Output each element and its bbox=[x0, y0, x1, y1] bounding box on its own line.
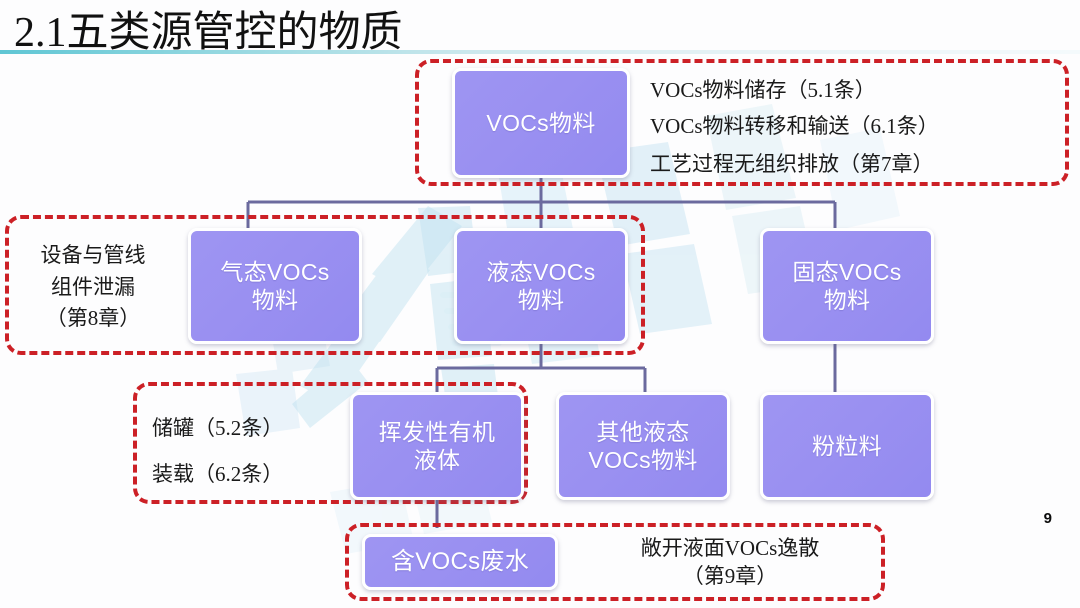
slide-header: 2.1五类源管控的物质 bbox=[0, 0, 1080, 56]
annotation-top-group-line-2: VOCs物料转移和输送（6.1条） bbox=[650, 110, 1050, 143]
node-vocs-wastewater[interactable]: 含VOCs废水 bbox=[362, 534, 558, 590]
annotation-tank: 储罐（5.2条） bbox=[152, 412, 352, 445]
node-volatile-organic-liquid[interactable]: 挥发性有机 液体 bbox=[350, 392, 524, 500]
diagram-canvas: VOCs物料 气态VOCs 物料 液态VOCs 物料 固态VOCs 物料 挥发性… bbox=[0, 0, 1080, 608]
annotation-equipment-leak: 设备与管线 组件泄漏 （第8章） bbox=[12, 240, 174, 335]
page-number: 9 bbox=[1044, 510, 1052, 527]
annotation-open-surface: 敞开液面VOCs逸散 （第9章） bbox=[590, 534, 870, 591]
node-other-liquid-vocs[interactable]: 其他液态 VOCs物料 bbox=[556, 392, 730, 500]
node-solid-vocs[interactable]: 固态VOCs 物料 bbox=[760, 228, 934, 344]
node-liquid-vocs[interactable]: 液态VOCs 物料 bbox=[454, 228, 628, 344]
node-vocs-material[interactable]: VOCs物料 bbox=[452, 68, 630, 178]
node-gaseous-vocs[interactable]: 气态VOCs 物料 bbox=[188, 228, 362, 344]
annotation-top-group-line-1: VOCs物料储存（5.1条） bbox=[650, 74, 1050, 107]
node-powder-material[interactable]: 粉粒料 bbox=[760, 392, 934, 500]
annotation-loading: 装载（6.2条） bbox=[152, 458, 352, 491]
annotation-top-group-line-3: 工艺过程无组织排放（第7章） bbox=[650, 148, 1050, 181]
title-divider bbox=[0, 50, 1080, 54]
